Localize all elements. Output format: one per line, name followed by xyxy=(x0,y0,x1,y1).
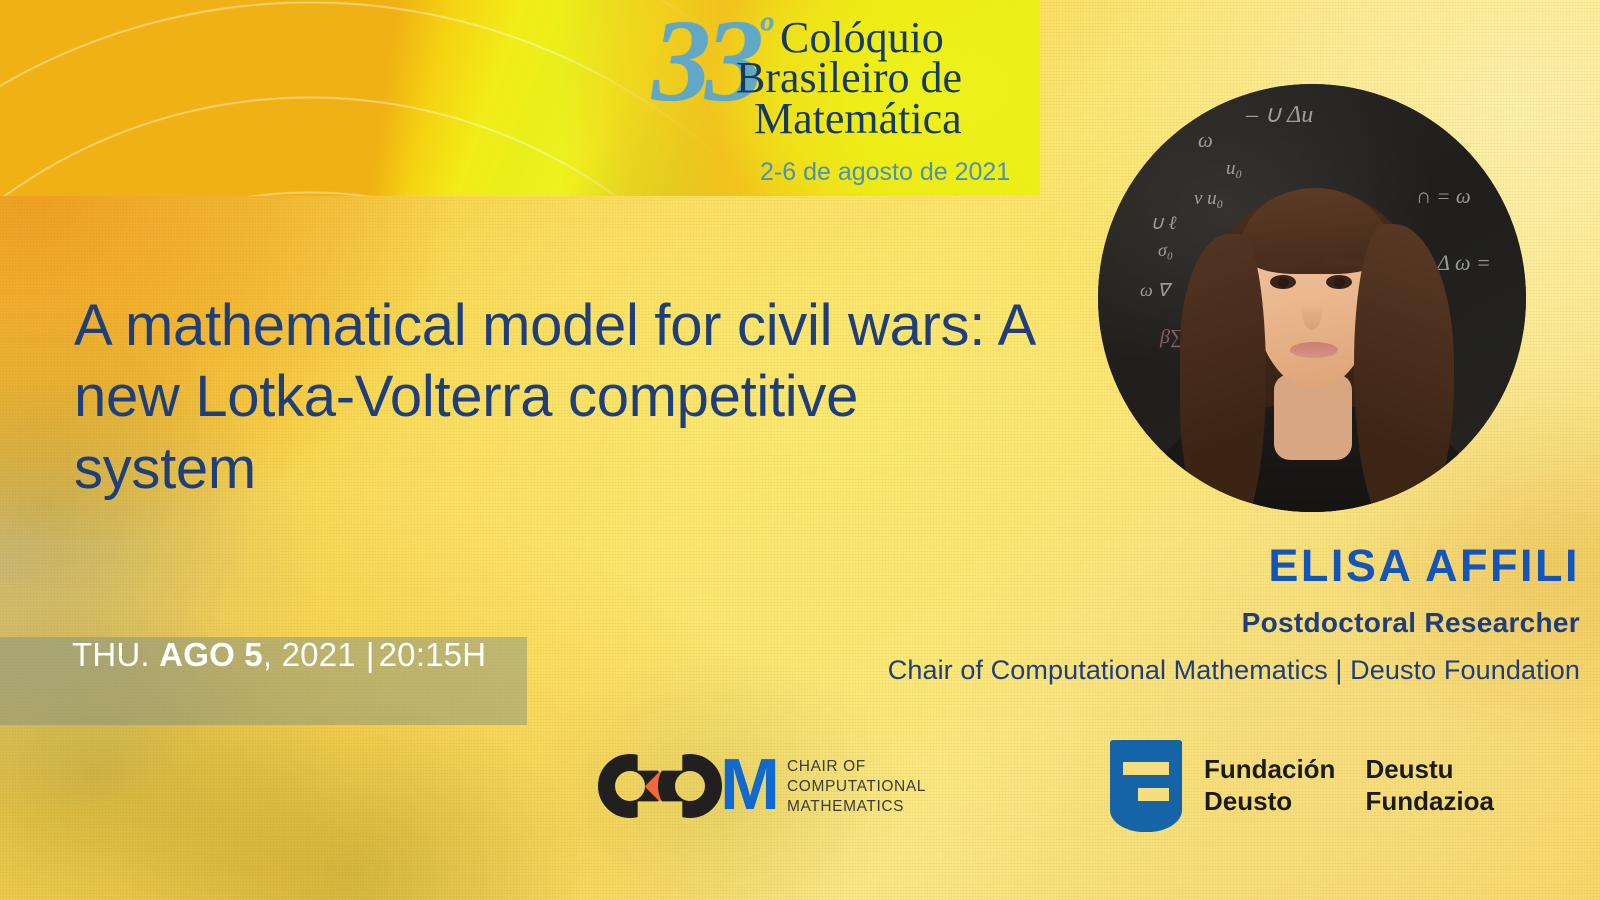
event-time: 20:15H xyxy=(379,636,487,673)
deusto-shield-bar-top xyxy=(1123,762,1169,775)
deusto-es-line-1: Fundación xyxy=(1204,754,1335,786)
banner-title: Colóquio Brasileiro de Matemática xyxy=(736,18,962,139)
speaker-role: Postdoctoral Researcher xyxy=(560,607,1600,639)
chalk-mark: ω xyxy=(1198,128,1213,153)
ccm-logo-mark-icon: M xyxy=(598,752,773,820)
portrait-iris-right xyxy=(1334,277,1345,288)
chalk-mark: ∪ ℓ xyxy=(1150,212,1177,235)
ccm-logo: M CHAIR OF COMPUTATIONAL MATHEMATICS xyxy=(598,752,926,820)
banner-event-dates: 2-6 de agosto de 2021 xyxy=(760,158,1010,187)
portrait-eye-left xyxy=(1270,275,1296,289)
portrait-nose xyxy=(1302,292,1322,330)
speaker-name: ELISA AFFILI xyxy=(560,540,1600,592)
banner-title-line-2: Brasileiro de xyxy=(736,58,962,98)
portrait-lips xyxy=(1290,342,1338,358)
colloquium-banner: 33º Colóquio Brasileiro de Matemática 2-… xyxy=(0,0,1040,196)
ccm-m-letter: M xyxy=(720,754,780,816)
deusto-text-spanish: Fundación Deusto xyxy=(1204,754,1335,817)
chalk-mark: ν u₀ xyxy=(1194,188,1223,210)
event-month-day: AGO 5 xyxy=(159,636,263,673)
speaker-portrait-photo: – ∪ Δu ω u₀ ν u₀ ∩ = ω Ω Δ ω = ∪ ℓ σ₀ ω … xyxy=(1098,84,1526,512)
deusto-es-line-2: Deusto xyxy=(1204,786,1335,818)
date-time-text: THU. AGO 5, 2021|20:15H xyxy=(72,636,492,675)
chalk-mark: ∩ = ω xyxy=(1416,184,1471,209)
deusto-eu-line-1: Deustu xyxy=(1365,754,1494,786)
ccm-c-right-icon xyxy=(658,754,722,818)
ccm-text-line-1: CHAIR OF xyxy=(787,757,926,777)
ccm-text-line-3: MATHEMATICS xyxy=(787,797,926,817)
deusto-eu-line-2: Fundazioa xyxy=(1365,786,1494,818)
banner-title-line-3: Matemática xyxy=(754,99,962,139)
portrait-iris-left xyxy=(1278,277,1289,288)
event-separator: | xyxy=(356,636,379,673)
event-day-of-week: THU. xyxy=(72,636,150,673)
ccm-text-line-2: COMPUTATIONAL xyxy=(787,777,926,797)
chalk-mark: u₀ xyxy=(1226,158,1242,180)
ccm-logo-text: CHAIR OF COMPUTATIONAL MATHEMATICS xyxy=(787,755,926,816)
deusto-logo-text: Fundación Deusto Deustu Fundazioa xyxy=(1204,740,1494,817)
portrait-hair-left xyxy=(1180,234,1266,512)
event-year: 2021 xyxy=(282,636,356,673)
deusto-shield-bar-bottom xyxy=(1138,788,1169,801)
speaker-affiliation: Chair of Computational Mathematics | Deu… xyxy=(560,655,1600,686)
deusto-text-basque: Deustu Fundazioa xyxy=(1365,754,1494,817)
banner-title-line-1: Colóquio xyxy=(780,18,962,58)
event-poster: 33º Colóquio Brasileiro de Matemática 2-… xyxy=(0,0,1600,900)
chalk-mark: σ₀ xyxy=(1158,240,1173,261)
event-comma: , xyxy=(263,636,272,673)
deusto-shield-icon xyxy=(1110,740,1182,832)
chalk-mark: – ∪ Δu xyxy=(1246,100,1313,129)
deusto-foundation-logo: Fundación Deusto Deustu Fundazioa xyxy=(1110,740,1494,832)
talk-title: A mathematical model for civil wars: A n… xyxy=(74,290,1054,504)
portrait-eye-right xyxy=(1326,275,1352,289)
chalk-mark: ω ∇ xyxy=(1140,280,1169,301)
